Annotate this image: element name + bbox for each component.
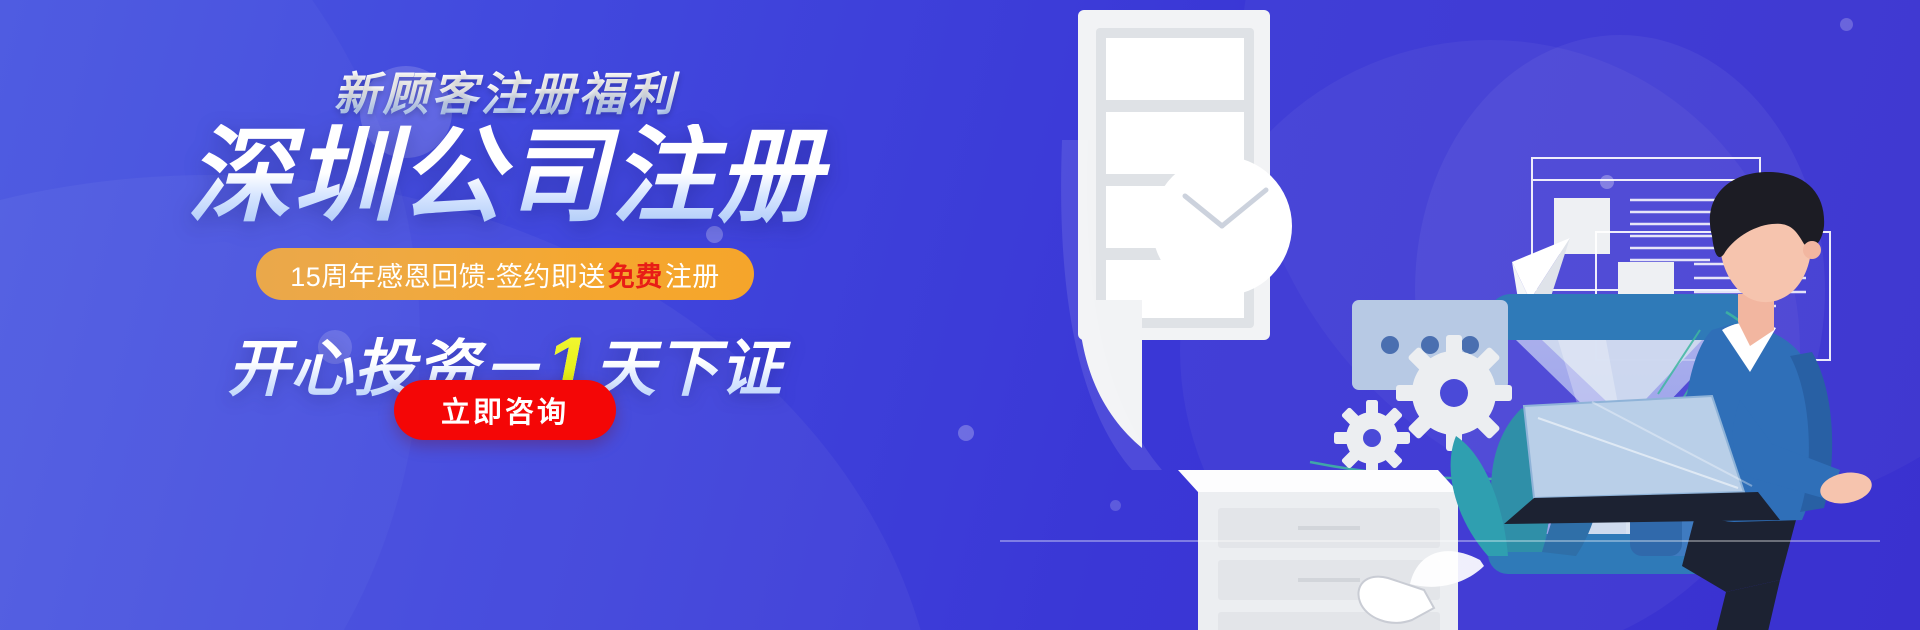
promo-badge: 15周年感恩回馈-签约即送 免费 注册 bbox=[256, 248, 754, 300]
promo-banner: 新顾客注册福利 深圳公司注册 15周年感恩回馈-签约即送 免费 注册 开心投资－… bbox=[0, 0, 1920, 630]
promo-badge-wrapper: 15周年感恩回馈-签约即送 免费 注册 bbox=[0, 248, 1010, 300]
promo-badge-highlight: 免费 bbox=[606, 255, 665, 294]
promo-badge-prefix: 15周年感恩回馈-签约即送 bbox=[290, 255, 606, 294]
chat-dots bbox=[1381, 336, 1479, 354]
banner-copy-block: 新顾客注册福利 深圳公司注册 15周年感恩回馈-签约即送 免费 注册 开心投资－… bbox=[0, 0, 1010, 630]
consult-now-button[interactable]: 立即咨询 bbox=[394, 380, 616, 440]
promo-badge-suffix: 注册 bbox=[665, 255, 720, 294]
cta-wrapper: 立即咨询 bbox=[0, 380, 1010, 440]
hero-illustration bbox=[1010, 0, 1920, 630]
banner-headline: 深圳公司注册 bbox=[0, 124, 1010, 230]
gear-small-icon bbox=[1334, 400, 1410, 476]
banner-kicker: 新顾客注册福利 bbox=[0, 58, 1010, 124]
gear-large-icon bbox=[1396, 335, 1512, 451]
floor-line bbox=[1000, 540, 1880, 542]
